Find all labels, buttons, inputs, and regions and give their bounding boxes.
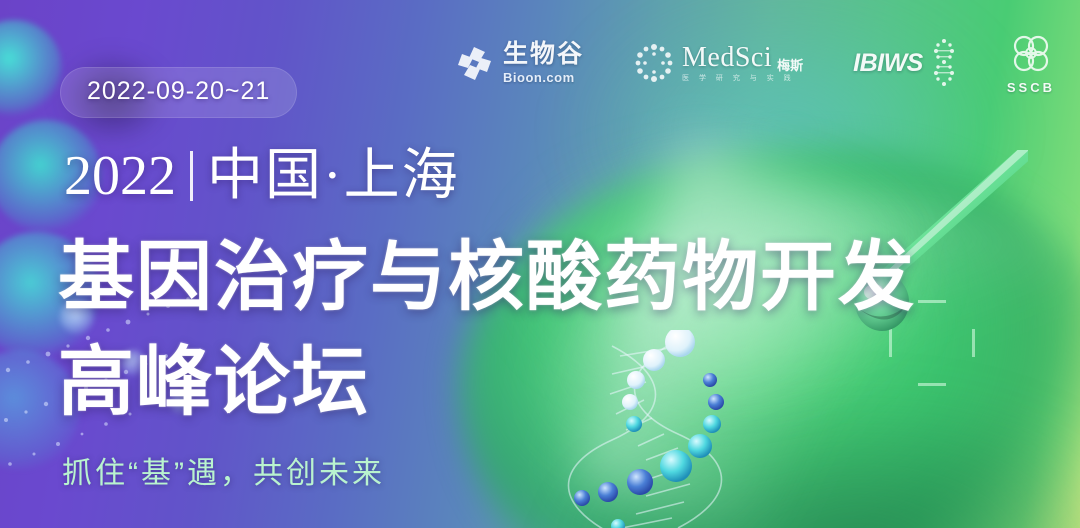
subtitle-location: 中国·上海 <box>207 148 460 204</box>
dna-helix-spheres <box>560 330 780 528</box>
logo-bioon-name-cn: 生物谷 <box>503 42 584 67</box>
sponsor-logo-row: 生物谷 Bioon.com MedSci <box>455 28 1055 98</box>
logo-medsci-tagline: 医 学 研 究 与 实 践 <box>682 75 803 82</box>
main-title-line-2: 高峰论坛 <box>58 345 370 421</box>
pinwheel-icon <box>455 43 495 83</box>
logo-ibiws[interactable]: IBIWS <box>853 39 957 87</box>
conference-banner: 生物谷 Bioon.com MedSci <box>0 0 1080 528</box>
pale-light-streak <box>572 139 988 528</box>
logo-sscb-name: SSCB <box>1007 80 1055 95</box>
logo-sscb[interactable]: SSCB <box>1007 32 1055 95</box>
dna-helix-icon <box>931 39 957 87</box>
main-title-line-1: 基因治疗与核酸药物开发 <box>58 240 916 316</box>
logo-bioon-name-en: Bioon.com <box>503 71 584 84</box>
logo-ibiws-name: IBIWS <box>853 49 923 78</box>
green-dish-shape <box>460 148 1080 528</box>
teal-bubble <box>0 20 62 116</box>
logo-medsci[interactable]: MedSci 梅斯 医 学 研 究 与 实 践 <box>634 43 803 83</box>
subtitle-line: 2022 中国·上海 <box>64 148 460 204</box>
logo-medsci-name-cn: 梅斯 <box>777 59 803 72</box>
logo-bioon[interactable]: 生物谷 Bioon.com <box>455 42 584 84</box>
subtitle-divider <box>190 151 193 201</box>
tagline: 抓住“基”遇，共创未来 <box>62 448 385 492</box>
subtitle-year: 2022 <box>64 148 176 204</box>
green-dish-highlight <box>515 153 1080 528</box>
molecule-circle-icon <box>634 43 674 83</box>
knot-icon <box>1008 32 1054 76</box>
logo-medsci-name-en: MedSci <box>682 44 772 72</box>
green-dish-shadow <box>550 388 1080 528</box>
date-badge: 2022-09-20~21 <box>60 67 297 118</box>
